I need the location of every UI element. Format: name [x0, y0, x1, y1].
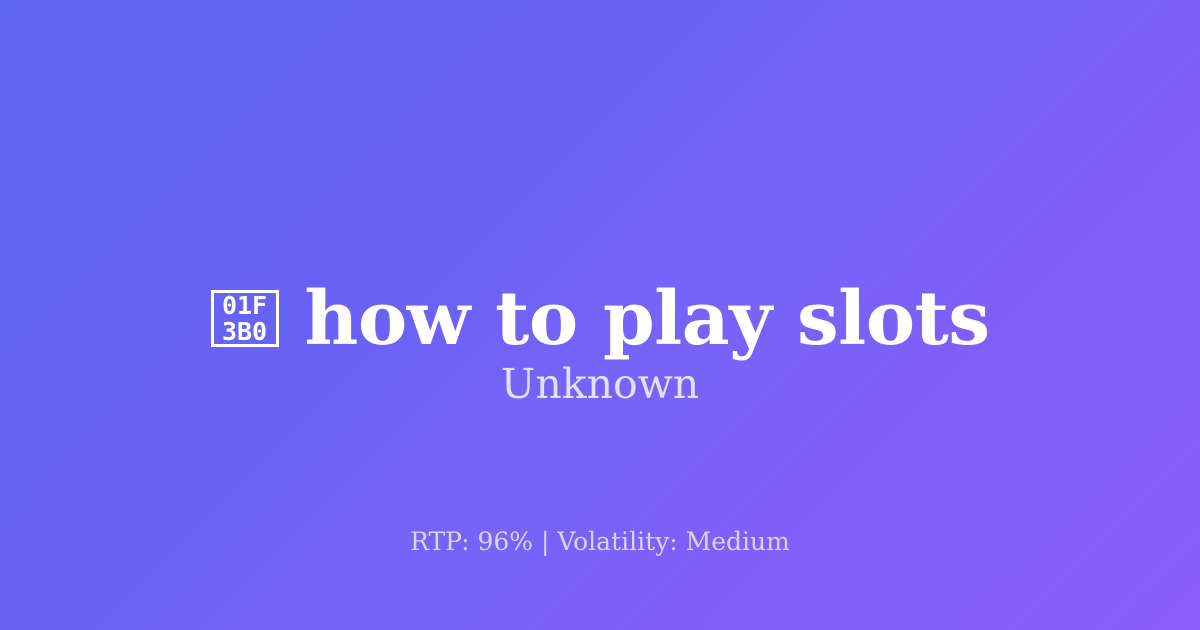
subtitle: Unknown [0, 362, 1200, 407]
tofu-codepoint-bottom: 3B0 [222, 319, 267, 344]
page-title: how to play slots [305, 282, 990, 357]
tofu-codepoint-top: 01F [222, 293, 267, 318]
og-preview-card: 01F 3B0 how to play slots Unknown RTP: 9… [0, 0, 1200, 630]
game-stats-line: RTP: 96% | Volatility: Medium [0, 527, 1200, 557]
slot-machine-icon: 01F 3B0 [211, 290, 279, 347]
